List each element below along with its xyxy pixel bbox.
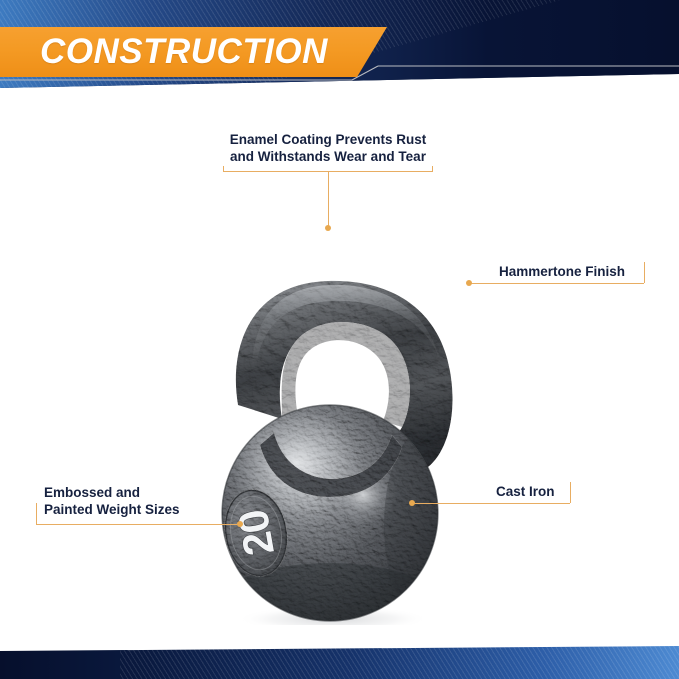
callout-enamel-leader-tick-left [223, 166, 224, 172]
section-title-banner: CONSTRUCTION [0, 27, 387, 77]
callout-hammertone-line1: Hammertone Finish [499, 264, 625, 279]
callout-enamel-anchor-dot [325, 225, 331, 231]
callout-enamel-coating-line1: Enamel Coating Prevents Rust [230, 132, 427, 147]
page-title: CONSTRUCTION [40, 32, 328, 72]
callout-embossed-leader-tick-left [36, 503, 37, 524]
callout-hammertone-leader-horizontal [469, 283, 644, 284]
callout-hammertone-anchor-dot [466, 280, 472, 286]
callout-cast-iron-anchor-dot [409, 500, 415, 506]
callout-embossed-anchor-dot [237, 521, 243, 527]
callout-cast-iron-leader-tick-right [570, 482, 571, 503]
callout-cast-iron-leader-horizontal [412, 503, 570, 504]
callout-enamel-coating-line2: and Withstands Wear and Tear [230, 149, 426, 164]
weight-number: 20 [229, 507, 283, 559]
callout-hammertone-leader-tick-right [644, 262, 645, 283]
callout-embossed-text: Embossed and Painted Weight Sizes [44, 484, 180, 518]
kettlebell-product-image: 20 [178, 195, 508, 625]
callout-embossed-line2: Painted Weight Sizes [44, 502, 180, 517]
page-footer [0, 646, 679, 679]
callout-enamel-coating-text: Enamel Coating Prevents Rust and Withsta… [223, 131, 433, 165]
kettlebell-illustration: 20 [178, 195, 508, 625]
callout-cast-iron-line1: Cast Iron [496, 484, 555, 499]
callout-embossed-line1: Embossed and [44, 485, 140, 500]
callout-enamel-leader-drop [328, 171, 329, 226]
page-header: CONSTRUCTION [0, 0, 679, 88]
callout-enamel-leader-tick-right [432, 166, 433, 172]
callout-hammertone-text: Hammertone Finish [499, 263, 625, 280]
callout-embossed-leader-horizontal [36, 524, 240, 525]
callout-cast-iron-text: Cast Iron [496, 483, 555, 500]
